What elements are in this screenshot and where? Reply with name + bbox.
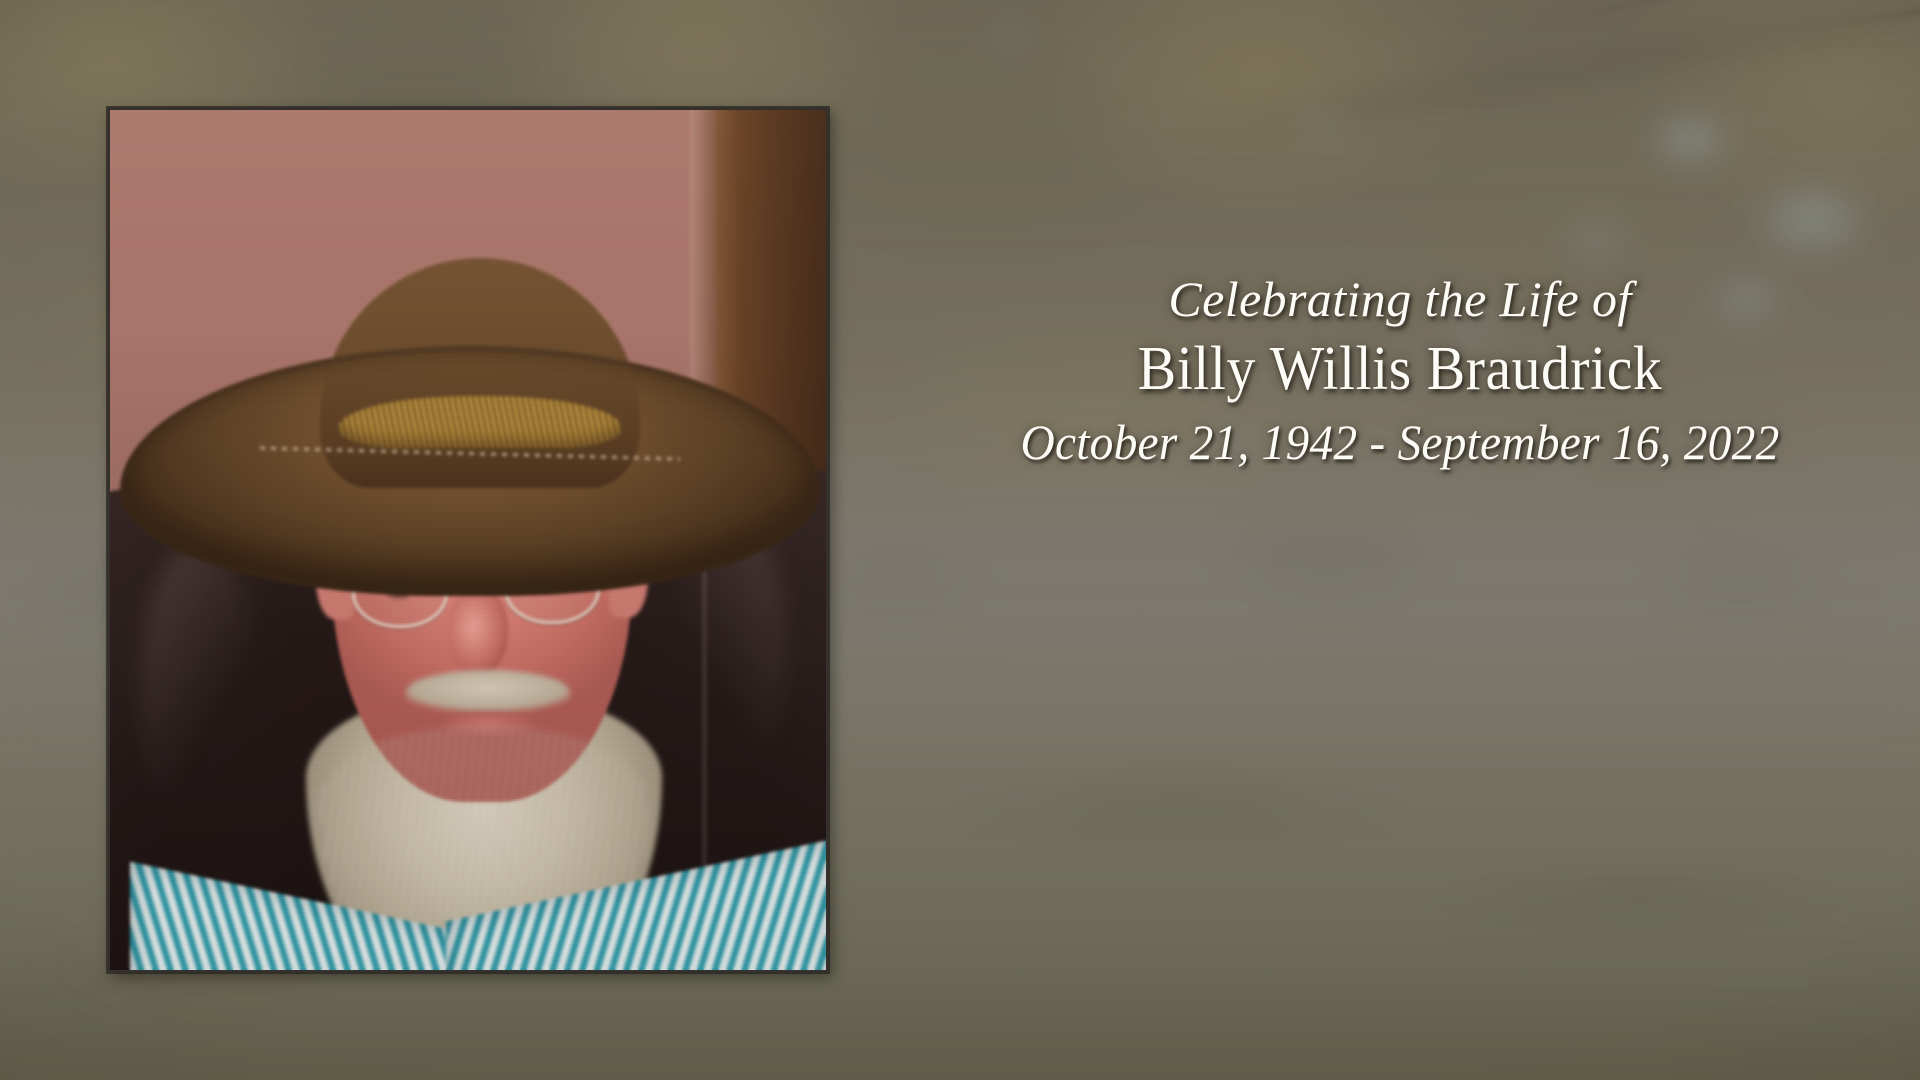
tribute-heading: Celebrating the Life of — [980, 268, 1820, 330]
deceased-name: Billy Willis Braudrick — [1009, 330, 1790, 408]
memorial-tribute-slide: Celebrating the Life of Billy Willis Bra… — [0, 0, 1920, 1080]
life-dates: October 21, 1942 - September 16, 2022 — [1001, 408, 1799, 476]
photo-grain — [110, 110, 826, 970]
portrait-photo — [107, 107, 829, 973]
tribute-text-block: Celebrating the Life of Billy Willis Bra… — [980, 268, 1820, 476]
